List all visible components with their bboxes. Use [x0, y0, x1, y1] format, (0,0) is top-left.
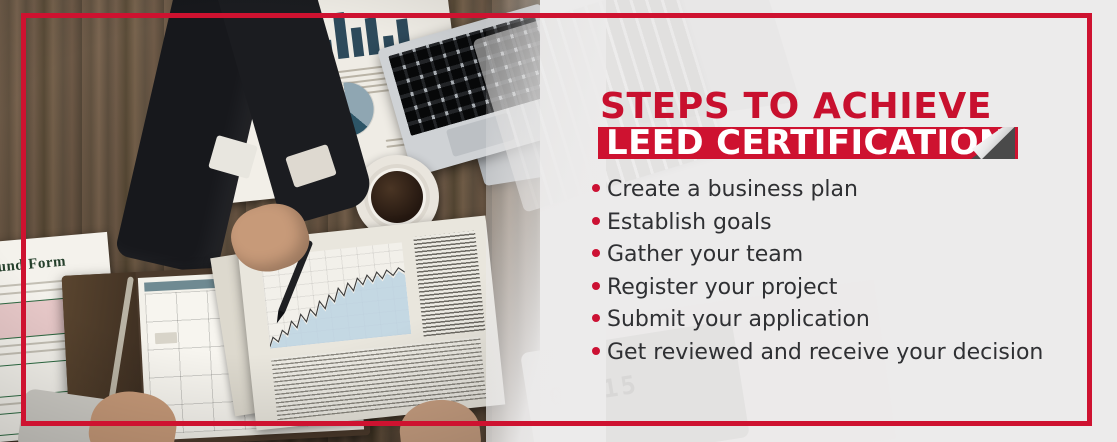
list-item: Register your project	[592, 274, 1092, 303]
list-item: Establish goals	[592, 209, 1092, 238]
list-item: Gather your team	[592, 241, 1092, 270]
page-curl-icon	[971, 127, 1015, 159]
list-item-label: Register your project	[607, 274, 837, 303]
list-item-label: Gather your team	[607, 241, 803, 270]
list-item-label: Establish goals	[607, 209, 772, 238]
list-item-label: Create a business plan	[607, 176, 858, 205]
banner-graphic: Refund Form	[0, 0, 1117, 442]
steps-list: Create a business plan Establish goals G…	[592, 176, 1092, 372]
list-item-label: Get reviewed and receive your decision	[607, 339, 1043, 368]
desk-photo: Refund Form	[0, 0, 560, 442]
page-title-line2: LEED CERTIFICATION	[606, 126, 1008, 160]
bullet-dot-icon	[592, 282, 600, 290]
photo-vignette	[0, 0, 560, 442]
list-item-label: Submit your application	[607, 306, 870, 335]
bullet-dot-icon	[592, 217, 600, 225]
bullet-dot-icon	[592, 249, 600, 257]
bullet-dot-icon	[592, 314, 600, 322]
list-item: Submit your application	[592, 306, 1092, 335]
list-item: Get reviewed and receive your decision	[592, 339, 1092, 368]
bullet-dot-icon	[592, 347, 600, 355]
page-title-line1: STEPS TO ACHIEVE	[600, 86, 992, 127]
bullet-dot-icon	[592, 184, 600, 192]
page-title-banner: LEED CERTIFICATION	[598, 127, 1018, 159]
list-item: Create a business plan	[592, 176, 1092, 205]
